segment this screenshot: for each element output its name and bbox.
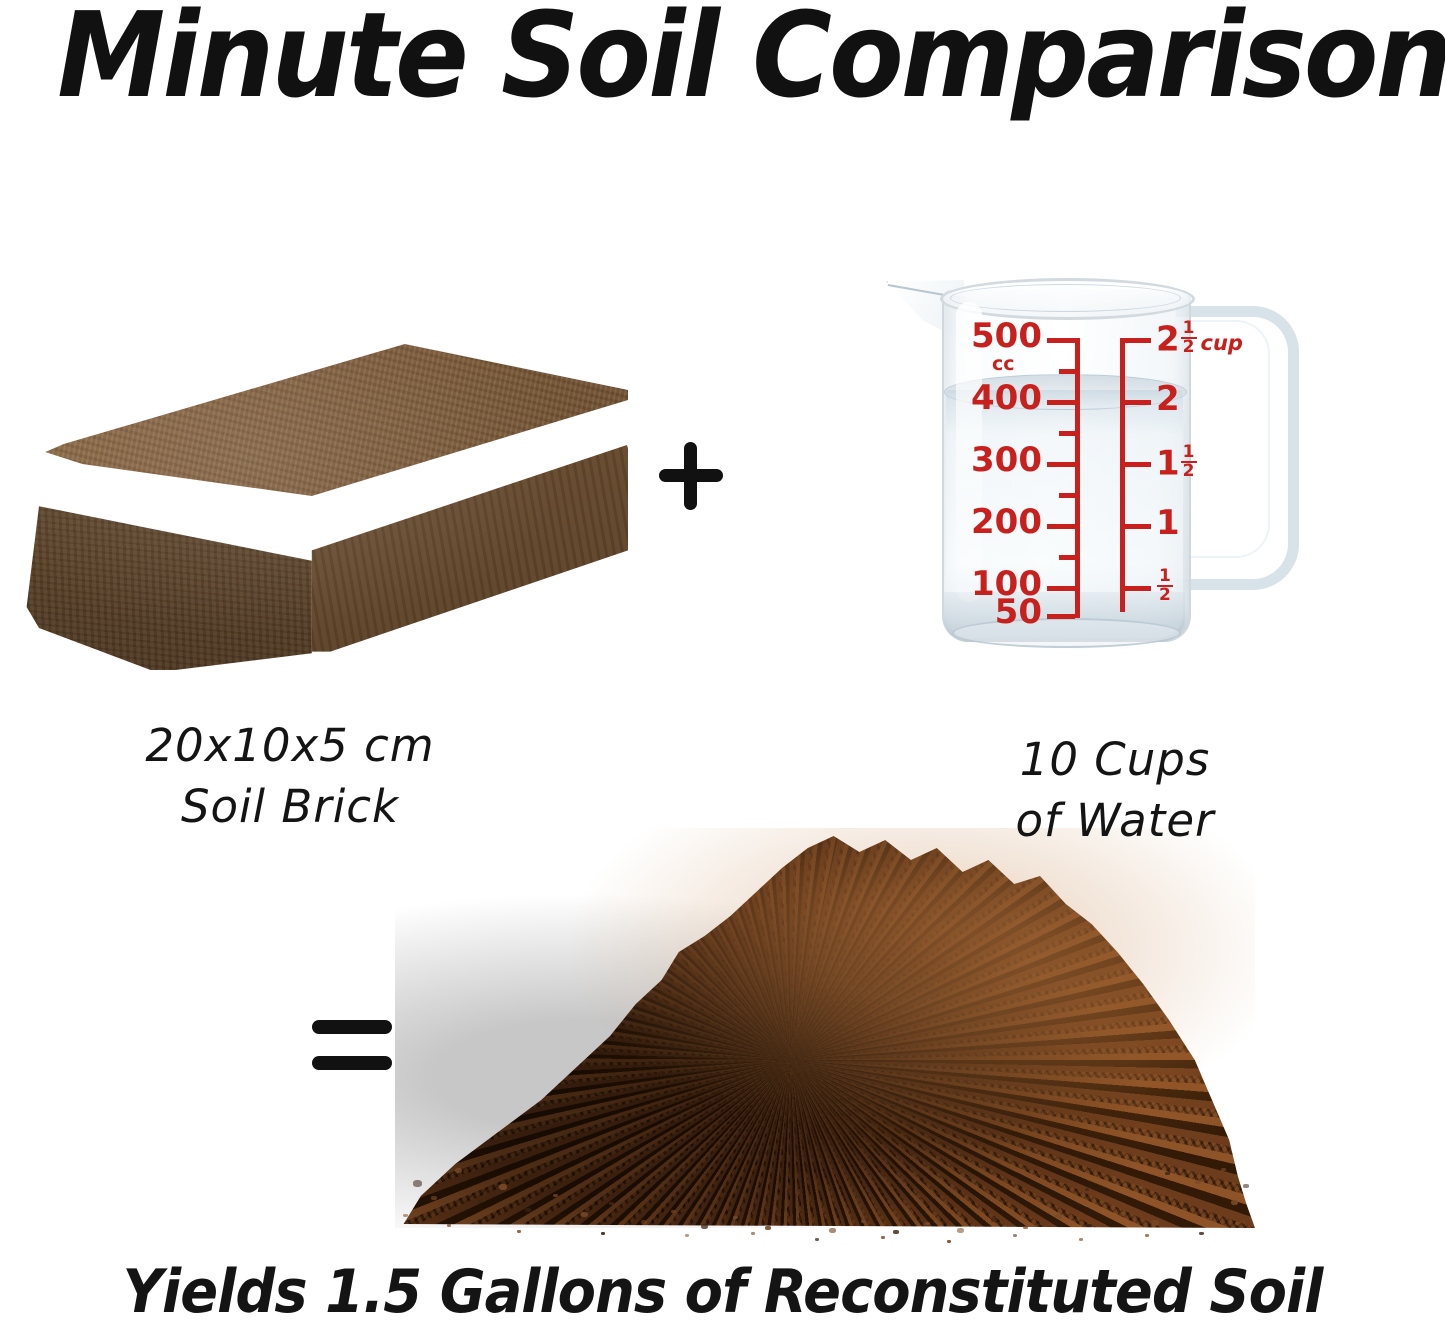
cc-label-500: 500	[971, 319, 1042, 353]
cup-tick-3	[1125, 524, 1151, 529]
cup-label-3: 1	[1156, 506, 1180, 540]
cc-label-200: 200	[971, 505, 1042, 539]
water-caption-line1: 10 Cups	[900, 730, 1330, 791]
soil-crumb	[1085, 1188, 1089, 1191]
soil-crumb	[671, 1210, 676, 1213]
soil-crumb	[431, 1196, 437, 1200]
plus-vertical-stroke	[684, 442, 697, 510]
soil-brick-image	[8, 340, 628, 670]
soil-crumb	[447, 1224, 451, 1227]
soil-crumb	[1023, 1226, 1028, 1229]
soil-crumb	[1221, 1168, 1226, 1171]
soil-pile-mound	[395, 828, 1255, 1228]
soil-crumb	[1183, 1204, 1189, 1208]
cc-tick-300	[1047, 462, 1075, 467]
cc-tick-50	[1047, 614, 1075, 619]
soil-crumb	[601, 1232, 605, 1235]
soil-crumb	[701, 1224, 708, 1229]
soil-crumb	[477, 1200, 482, 1203]
cup-tick-2	[1125, 462, 1151, 467]
brick-caption: 20x10x5 cm Soil Brick	[40, 716, 540, 838]
soil-crumb	[609, 1202, 614, 1205]
soil-crumb	[553, 1194, 558, 1197]
equals-operator-icon	[312, 1006, 398, 1086]
cc-label-400: 400	[971, 381, 1042, 415]
soil-crumb	[685, 1234, 689, 1237]
soil-crumb	[957, 1228, 964, 1233]
soil-crumb	[1199, 1232, 1204, 1235]
cc-tick-400	[1047, 400, 1075, 405]
soil-crumb	[641, 1220, 647, 1224]
soil-crumb	[991, 1218, 997, 1222]
soil-crumb	[893, 1230, 899, 1234]
soil-crumb	[1151, 1220, 1159, 1226]
soil-crumb	[1013, 1234, 1017, 1237]
cc-tick-500	[1047, 338, 1075, 343]
soil-crumb	[815, 1238, 819, 1241]
cup-label-2: 112	[1156, 444, 1198, 481]
measuring-cup-image: 500cc40030020010050212cup2112112	[880, 262, 1300, 662]
cup-tick-0	[1125, 338, 1151, 343]
water-caption-line2: of Water	[900, 791, 1330, 852]
soil-crumb	[861, 1220, 866, 1223]
cup-scale-rail	[1120, 338, 1125, 612]
soil-crumb	[499, 1184, 507, 1190]
equals-top-stroke	[312, 1020, 392, 1034]
soil-crumb	[403, 1214, 408, 1217]
cc-tick-200	[1047, 524, 1075, 529]
cup-label-4: 12	[1156, 568, 1174, 605]
soil-crumb	[765, 1226, 771, 1230]
soil-crumb	[1243, 1184, 1249, 1188]
soil-crumb	[1111, 1176, 1116, 1179]
cc-label-300: 300	[971, 443, 1042, 477]
water-caption: 10 Cups of Water	[900, 730, 1330, 852]
cc-label-50: 50	[995, 595, 1042, 629]
cc-unit-label: cc	[992, 353, 1015, 375]
cup-tick-1	[1125, 400, 1151, 405]
cc-minor-tick-3	[1059, 555, 1075, 560]
soil-crumb	[1087, 1224, 1092, 1227]
cc-minor-tick-0	[1059, 369, 1075, 374]
brick-caption-line2: Soil Brick	[40, 777, 540, 838]
cup-measurement-scale: 500cc40030020010050212cup2112112	[880, 262, 1300, 662]
cc-minor-tick-2	[1059, 493, 1075, 498]
soil-crumb	[829, 1228, 836, 1233]
soil-crumb	[1119, 1212, 1125, 1216]
soil-crumb	[751, 1232, 755, 1235]
soil-crumb	[455, 1168, 462, 1173]
soil-crumb	[413, 1180, 422, 1187]
soil-crumb	[1165, 1172, 1170, 1175]
soil-crumb	[925, 1222, 930, 1225]
soil-crumb	[1139, 1186, 1143, 1189]
soil-crumb	[517, 1230, 521, 1233]
soil-crumb	[525, 1208, 531, 1212]
cup-label-1: 2	[1156, 382, 1180, 416]
cup-tick-4	[1125, 586, 1151, 591]
soil-crumb	[881, 1236, 885, 1239]
equals-bottom-stroke	[312, 1056, 392, 1070]
soil-crumb	[1055, 1214, 1062, 1219]
brick-caption-line1: 20x10x5 cm	[40, 716, 540, 777]
soil-crumb	[733, 1216, 738, 1219]
soil-crumb	[581, 1212, 588, 1217]
soil-crumb	[1231, 1200, 1238, 1205]
cc-minor-tick-1	[1059, 431, 1075, 436]
soil-crumb	[1195, 1180, 1201, 1184]
cc-tick-100	[1047, 586, 1075, 591]
plus-operator-icon	[655, 424, 727, 524]
page-title: Minute Soil Comparison	[57, 0, 1373, 118]
soil-crumb	[797, 1218, 802, 1221]
soil-crumb	[1235, 1222, 1239, 1225]
soil-crumb	[947, 1240, 951, 1243]
cc-scale-rail	[1075, 338, 1080, 618]
yield-caption: Yields 1.5 Gallons of Reconstituted Soil	[51, 1252, 1395, 1333]
cup-label-0: 212cup	[1156, 320, 1243, 357]
soil-crumb	[1079, 1238, 1083, 1241]
soil-crumb	[1207, 1218, 1212, 1221]
soil-crumb	[1145, 1234, 1149, 1237]
soil-pile-image	[395, 828, 1255, 1246]
